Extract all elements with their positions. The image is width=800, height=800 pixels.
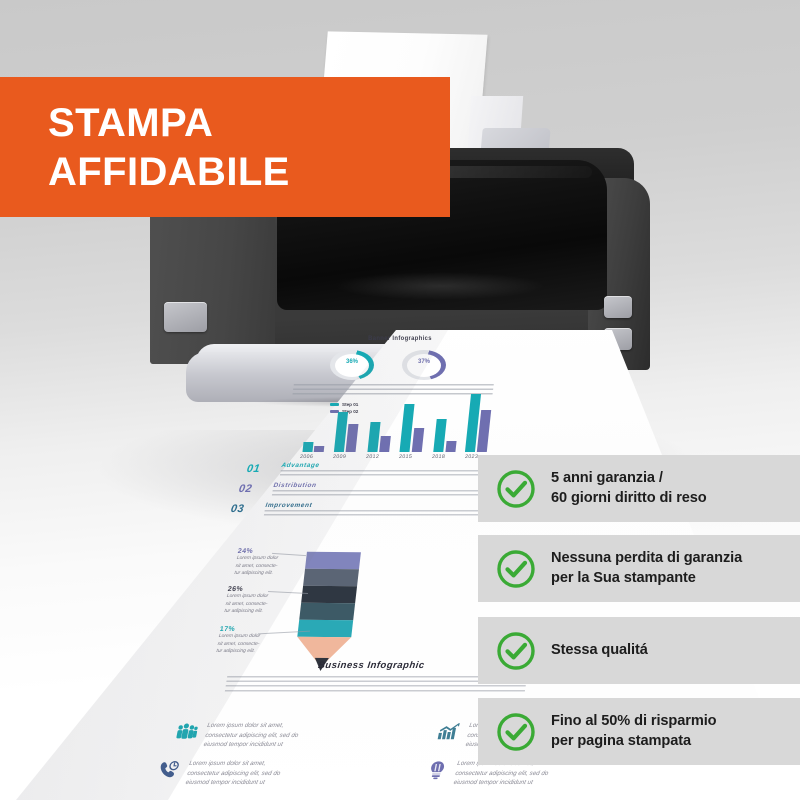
check-circle-icon (496, 631, 536, 671)
feature-card-4[interactable]: Fino al 50% di risparmio per pagina stam… (478, 698, 800, 765)
poster-canvas: Banner Infographics 36% 37% Step 01 Step… (0, 0, 800, 800)
headline-text: STAMPA AFFIDABILE (48, 99, 290, 197)
panel-button-left[interactable] (164, 302, 207, 332)
feature-card-2[interactable]: Nessuna perdita di garanzia per la Sua s… (478, 535, 800, 602)
check-circle-icon (496, 469, 536, 509)
feature-text: Nessuna perdita di garanzia per la Sua s… (551, 549, 742, 588)
check-circle-icon (496, 549, 536, 589)
feature-text: Fino al 50% di risparmio per pagina stam… (551, 712, 716, 751)
headline-banner: STAMPA AFFIDABILE (0, 77, 450, 217)
feature-card-3[interactable]: Stessa qualitá (478, 617, 800, 684)
feature-text: 5 anni garanzia / 60 giorni diritto di r… (551, 469, 707, 508)
feature-text: Stessa qualitá (551, 641, 648, 660)
feature-card-1[interactable]: 5 anni garanzia / 60 giorni diritto di r… (478, 455, 800, 522)
check-circle-icon (496, 712, 536, 752)
printer-lid-gloss (300, 268, 580, 304)
panel-button-right-top[interactable] (604, 296, 632, 318)
printer-body-left-panel (150, 196, 275, 364)
